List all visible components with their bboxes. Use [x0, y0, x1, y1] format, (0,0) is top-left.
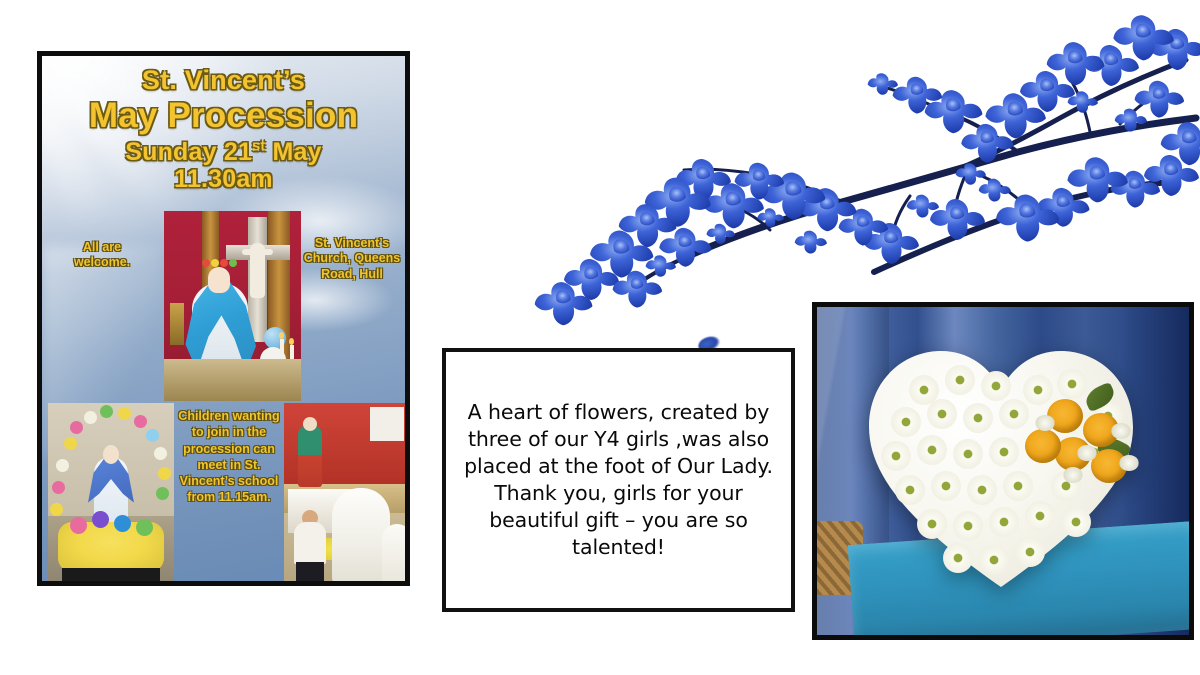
poster-photo-children-at-altar	[284, 403, 408, 586]
page-canvas: St. Vincent’s May Procession Sunday 21st…	[0, 0, 1200, 675]
blue-blossom-branch-graphic	[470, 0, 1200, 330]
poster-headline: St. Vincent’s May Procession Sunday 21st…	[42, 62, 405, 193]
poster-photo-flower-shrine	[48, 403, 174, 586]
may-procession-poster: St. Vincent’s May Procession Sunday 21st…	[37, 51, 410, 586]
poster-date-ordinal: st	[252, 138, 265, 154]
heart-of-flowers-textbox: A heart of flowers, created by three of …	[442, 348, 795, 612]
poster-caption-welcome: All are welcome.	[54, 240, 150, 271]
heart-of-flowers-paragraph: A heart of flowers, created by three of …	[446, 399, 791, 561]
poster-caption-address: St. Vincent’s Church, Queens Road, Hull	[300, 236, 404, 282]
yellow-roses-cluster	[1033, 393, 1145, 489]
heart-of-flowers-photo	[812, 302, 1194, 640]
flower-heart-arrangement	[865, 341, 1137, 593]
poster-date-line: Sunday 21st May	[42, 139, 405, 166]
poster-photo-church-statue	[164, 211, 301, 401]
poster-title-line-2: May Procession	[42, 97, 405, 134]
poster-time-line: 11.30am	[42, 166, 405, 193]
poster-title-line-1: St. Vincent’s	[42, 66, 405, 95]
poster-date-prefix: Sunday 21	[125, 138, 252, 166]
poster-date-suffix: May	[265, 138, 321, 166]
poster-caption-children: Children wanting to join in the processi…	[176, 408, 282, 506]
